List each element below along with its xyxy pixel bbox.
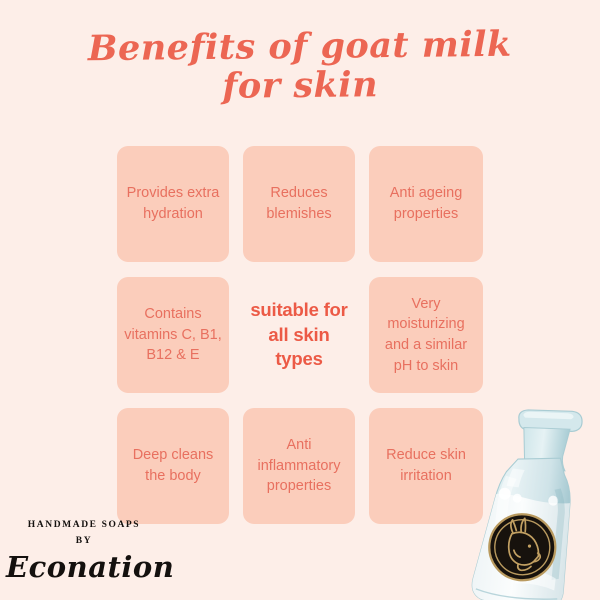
page-title-line-2: for skin xyxy=(0,62,600,110)
page-title-line-1: Benefits of goat milk xyxy=(0,23,600,71)
brand-lockup: HANDMADE SOAPS BY Econation xyxy=(6,518,162,583)
milk-bottle-illustration xyxy=(470,406,600,600)
benefits-grid: Provides extra hydration Reduces blemish… xyxy=(117,146,483,524)
bottle-cap xyxy=(517,406,583,436)
benefit-card-highlight: suitable for all skin types xyxy=(243,277,355,393)
page-title: Benefits of goat milk for skin xyxy=(0,23,600,110)
brand-by-label: BY xyxy=(6,533,162,549)
benefit-card: Very moisturizing and a similar pH to sk… xyxy=(369,277,483,393)
bottle-body xyxy=(470,449,579,600)
goat-logo-label xyxy=(486,510,560,584)
bottle-neck xyxy=(519,424,570,475)
benefit-card: Deep cleans the body xyxy=(117,408,229,524)
bottle-milk-fill xyxy=(470,491,577,600)
benefit-card: Reduce skin irritation xyxy=(369,408,483,524)
brand-name: Econation xyxy=(6,552,162,582)
benefit-card: Contains vitamins C, B1, B12 & E xyxy=(117,277,229,393)
brand-tagline: HANDMADE SOAPS xyxy=(6,518,162,533)
benefit-card: Provides extra hydration xyxy=(117,146,229,262)
benefit-card: Anti ageing properties xyxy=(369,146,483,262)
poster-canvas: Benefits of goat milk for skin Provides … xyxy=(0,0,600,600)
benefit-card: Reduces blemishes xyxy=(243,146,355,262)
benefit-card: Anti inflammatory properties xyxy=(243,408,355,524)
goat-head-icon xyxy=(505,517,544,573)
milk-bottle-icon xyxy=(470,406,600,600)
